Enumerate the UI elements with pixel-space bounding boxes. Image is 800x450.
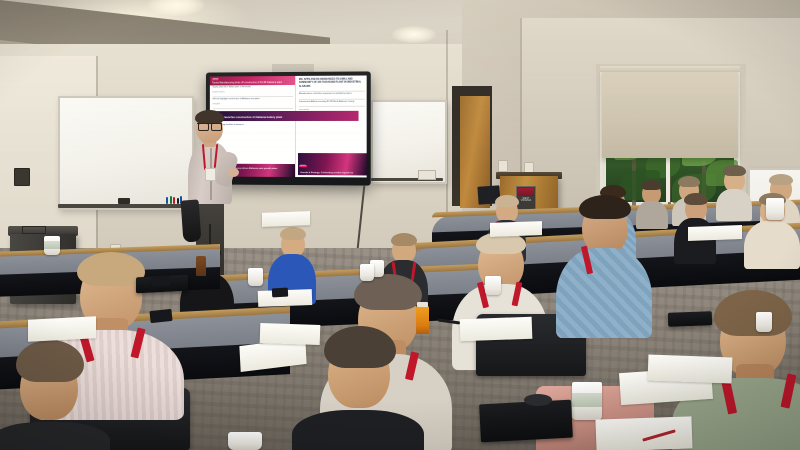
presenter-hand: [228, 168, 239, 177]
paper-handout[interactable]: [595, 416, 692, 450]
drink-bottle[interactable]: [416, 306, 429, 334]
marker-icon: [166, 197, 168, 204]
news-right-headline[interactable]: MO. APPS AND BS ANNOUNCES ITS OWN LAND C…: [296, 75, 366, 89]
glasses-lens: [211, 123, 222, 131]
marker-icon: [170, 196, 172, 204]
attendee-foreground: [0, 352, 110, 450]
news-tag: NEWS: [212, 78, 219, 80]
cup-sleeve: [572, 393, 602, 407]
cup-sleeve: [44, 241, 60, 248]
wall-outlet[interactable]: [498, 160, 508, 172]
attendee-hair: [280, 227, 306, 240]
smartphone[interactable]: [149, 309, 172, 323]
attendee-foreground: [292, 336, 424, 450]
glasses-lens: [198, 123, 209, 131]
attendee-hair: [723, 165, 746, 176]
whiteboard-supplies[interactable]: [418, 170, 436, 180]
attendee-hair: [391, 233, 417, 246]
ceiling-downlight: [392, 26, 436, 43]
coffee-cup[interactable]: [766, 198, 784, 220]
wall-outlet[interactable]: [14, 168, 30, 186]
paper-handout[interactable]: [28, 316, 96, 342]
news-body-line: market opens: [210, 90, 295, 95]
coffee-cup[interactable]: [360, 264, 374, 281]
news-body-line: and jobs: [210, 102, 295, 107]
smartphone[interactable]: [152, 275, 171, 286]
news-right-body: Construction Alberta investing $1.3B Nor…: [296, 100, 366, 105]
coffee-cup[interactable]: [44, 236, 60, 255]
paper-handout[interactable]: [688, 225, 742, 241]
whiteboard-eraser[interactable]: [118, 198, 130, 204]
paper-handout[interactable]: [262, 211, 310, 227]
conference-room-scene: WEST VIRGINIA NEWS Toyota Manufacturing …: [0, 0, 800, 450]
coffee-cup[interactable]: [485, 276, 501, 295]
attendee-torso: [556, 248, 652, 338]
bottle-cap-icon: [417, 302, 428, 307]
coaster: [524, 394, 552, 406]
notebook[interactable]: [479, 400, 573, 443]
attendee-hair: [678, 176, 700, 187]
coffee-cup[interactable]: [248, 268, 263, 286]
news-headline-text: Toyota Manufacturing kicks off construct…: [212, 81, 294, 84]
paper-handout[interactable]: [490, 221, 542, 237]
window-roller-shade[interactable]: [602, 70, 738, 158]
presenter-hair: [195, 110, 224, 124]
attendee-hair: [714, 290, 792, 336]
coffee-cup[interactable]: [756, 312, 772, 332]
podium-logo: [518, 188, 534, 196]
recycle-bin-slot: [22, 226, 46, 234]
paper-handout[interactable]: [460, 317, 533, 341]
drink-bottle[interactable]: [196, 256, 206, 276]
news-right-bottom-card[interactable]: NEWS Growth & Strategy: Celebrating anot…: [298, 153, 366, 175]
divider: [212, 108, 293, 109]
whiteboard-marker-tray: [58, 204, 190, 208]
attendee-torso: [292, 410, 424, 450]
attendee-hair: [579, 195, 631, 219]
attendee-torso: [744, 221, 800, 269]
presenter-badge: [205, 168, 216, 181]
attendee-hair: [769, 174, 793, 185]
attendee-hair: [77, 252, 145, 286]
notebook[interactable]: [668, 311, 712, 327]
news-right-body: Manufacturers of facilities expansion at…: [296, 92, 366, 97]
attendee-torso: [0, 422, 110, 450]
attendee-hair: [16, 340, 84, 382]
attendee-hair: [495, 195, 519, 207]
paper-handout[interactable]: [260, 323, 321, 345]
window-shade-valance: [600, 66, 740, 72]
attendee-hair: [684, 193, 708, 205]
coffee-cup[interactable]: [572, 382, 602, 420]
marker-icon: [173, 197, 175, 204]
attendee-torso: [674, 218, 716, 264]
attendee-hair: [324, 326, 396, 368]
coffee-cup[interactable]: [228, 432, 262, 450]
news-right-bottom-headline: Growth & Strategy: Celebrating another b…: [298, 171, 366, 177]
whiteboard-left: [58, 96, 194, 210]
news-tag: NEWS: [299, 165, 306, 167]
paper-handout[interactable]: [648, 355, 733, 384]
smartphone[interactable]: [272, 288, 288, 298]
jacket-on-chair: [181, 199, 202, 242]
attendee-hair: [641, 180, 662, 190]
news-right-column: MO. APPS AND BS ANNOUNCES ITS OWN LAND C…: [295, 75, 366, 177]
attendee-foreground: [556, 200, 652, 334]
